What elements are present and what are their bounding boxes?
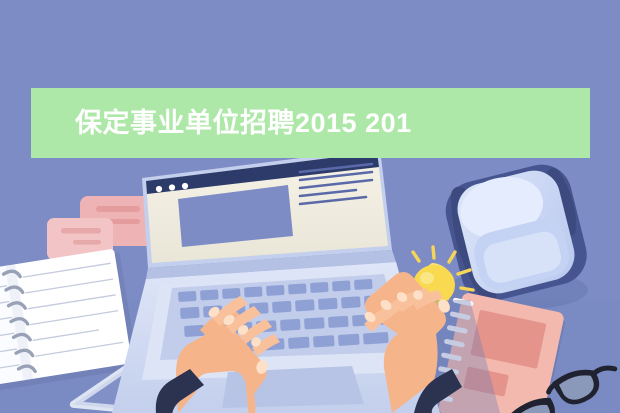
banner-title-text: 保定事业单位招聘2015 201 [31, 110, 412, 137]
desk-scene-artwork [0, 0, 620, 413]
title-banner: 保定事业单位招聘2015 201 [31, 88, 590, 158]
illustration-screenshot: 保定事业单位招聘2015 201 [0, 0, 620, 413]
